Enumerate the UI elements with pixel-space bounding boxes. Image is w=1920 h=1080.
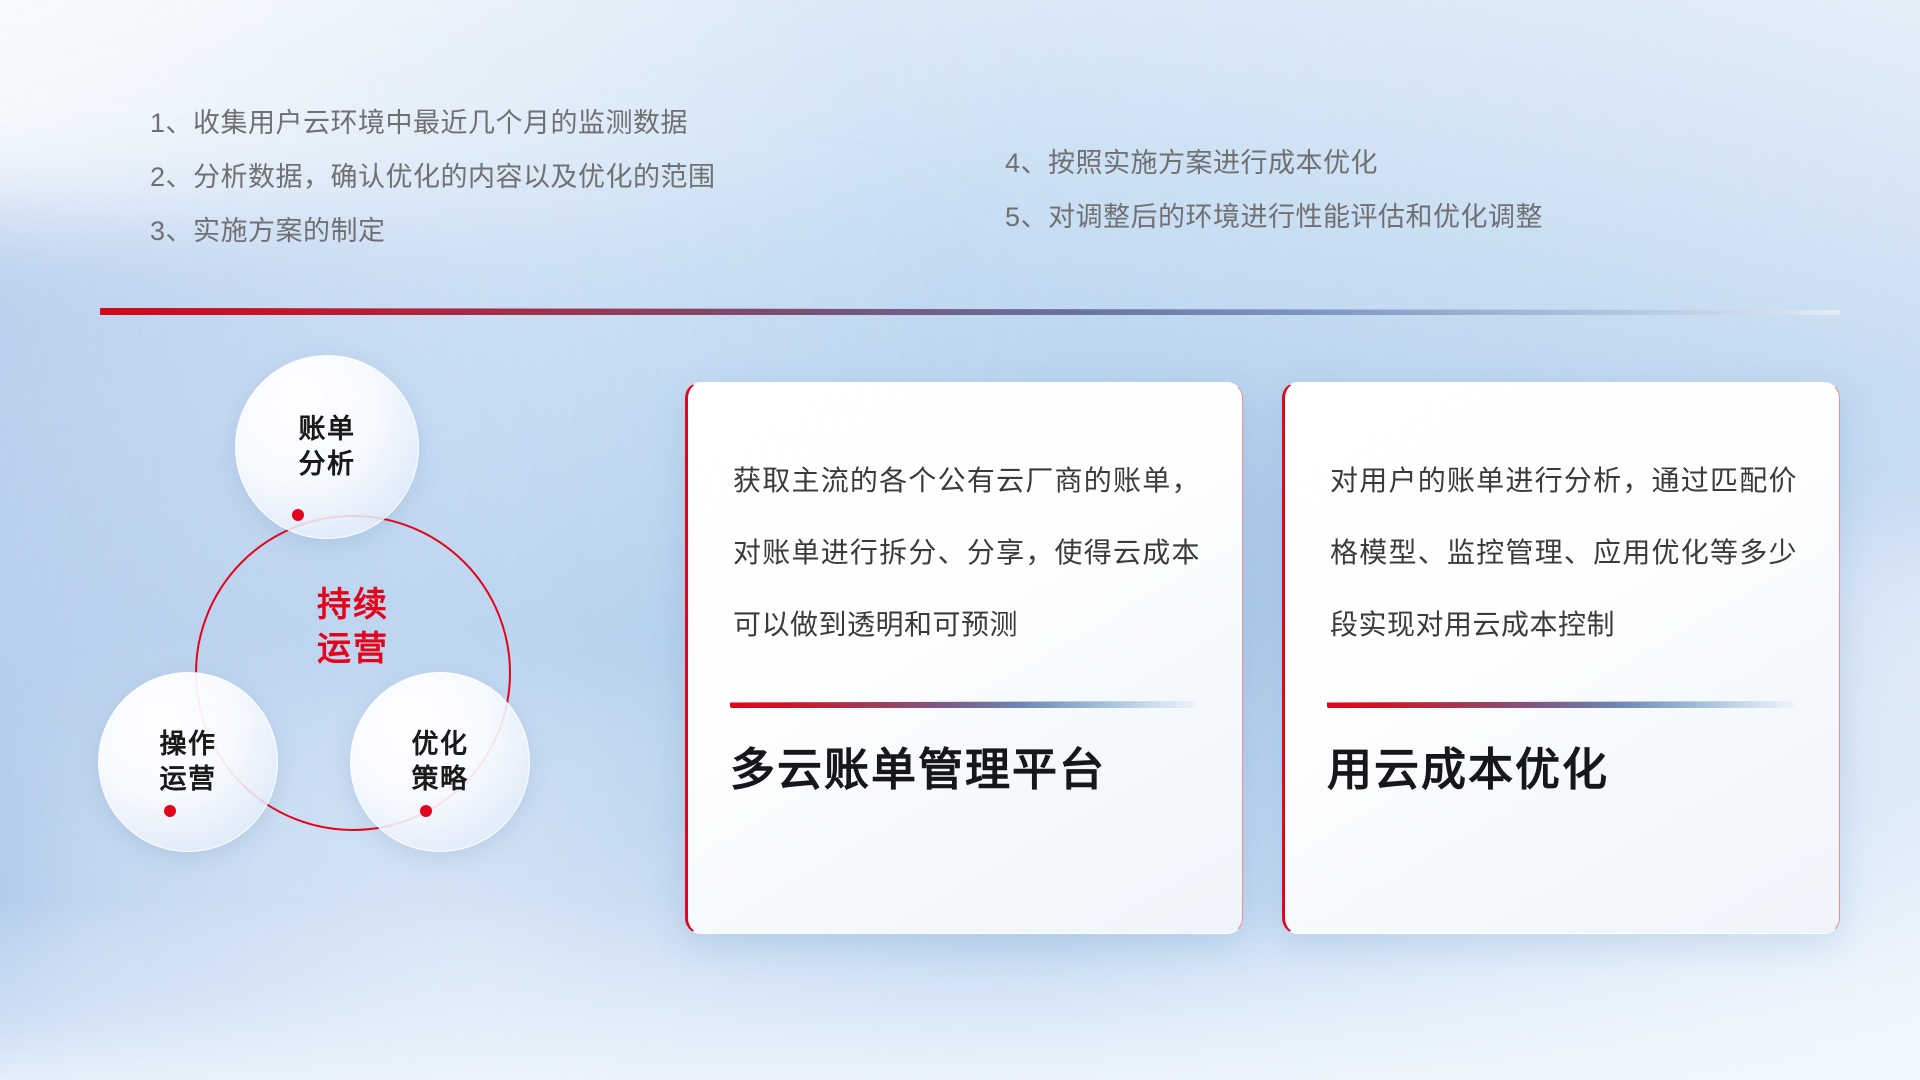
step-item-4: 4、按照实施方案进行成本优化: [1005, 136, 1543, 190]
diagram-center-label: 持续 运营: [195, 583, 511, 671]
diagram-connector-dot-right: [420, 805, 432, 817]
diagram-node-bill-analysis[interactable]: 账单 分析: [235, 355, 419, 539]
step-item-5: 5、对调整后的环境进行性能评估和优化调整: [1005, 190, 1543, 244]
feature-card-multicloud-billing[interactable]: 获取主流的各个公有云厂商的账单，对账单进行拆分、分享，使得云成本可以做到透明和可…: [685, 382, 1243, 934]
steps-column-left: 1、收集用户云环境中最近几个月的监测数据 2、分析数据，确认优化的内容以及优化的…: [150, 96, 716, 258]
continuous-operation-diagram: 持续 运营 账单 分析 操作 运营 优化 策略: [90, 355, 620, 915]
feature-card-cost-optimization[interactable]: 对用户的账单进行分析，通过匹配价格模型、监控管理、应用优化等多少段实现对用云成本…: [1282, 382, 1840, 934]
feature-card-cost-optimization-title: 用云成本优化: [1327, 743, 1801, 797]
section-divider: [100, 308, 1840, 320]
diagram-node-operation-line1: 操作: [160, 727, 217, 762]
step-item-1: 1、收集用户云环境中最近几个月的监测数据: [150, 96, 716, 150]
diagram-node-optimization-strategy[interactable]: 优化 策略: [350, 672, 530, 852]
diagram-node-optimization-strategy-line1: 优化: [412, 727, 469, 762]
diagram-connector-dot-top: [292, 509, 304, 521]
feature-card-cost-optimization-body: 对用户的账单进行分析，通过匹配价格模型、监控管理、应用优化等多少段实现对用云成本…: [1330, 445, 1797, 661]
section-divider-bar: [100, 308, 1840, 315]
diagram-node-optimization-strategy-line2: 策略: [412, 762, 469, 797]
feature-card-multicloud-billing-rule: [730, 701, 1198, 708]
diagram-node-bill-analysis-line2: 分析: [299, 447, 356, 482]
diagram-node-bill-analysis-line1: 账单: [299, 412, 356, 447]
steps-list: 1、收集用户云环境中最近几个月的监测数据 2、分析数据，确认优化的内容以及优化的…: [150, 96, 1750, 246]
diagram-node-operation[interactable]: 操作 运营: [98, 672, 278, 852]
diagram-center-label-line2: 运营: [195, 627, 511, 671]
feature-cards: 获取主流的各个公有云厂商的账单，对账单进行拆分、分享，使得云成本可以做到透明和可…: [685, 382, 1840, 934]
steps-column-right: 4、按照实施方案进行成本优化 5、对调整后的环境进行性能评估和优化调整: [1005, 136, 1543, 244]
feature-card-cost-optimization-rule: [1327, 701, 1795, 708]
step-item-2: 2、分析数据，确认优化的内容以及优化的范围: [150, 150, 716, 204]
diagram-node-operation-line2: 运营: [160, 762, 217, 797]
step-item-3: 3、实施方案的制定: [150, 204, 716, 258]
diagram-center-label-line1: 持续: [195, 583, 511, 627]
feature-card-multicloud-billing-title: 多云账单管理平台: [730, 743, 1204, 797]
feature-card-multicloud-billing-body: 获取主流的各个公有云厂商的账单，对账单进行拆分、分享，使得云成本可以做到透明和可…: [733, 445, 1200, 661]
slide-canvas: 1、收集用户云环境中最近几个月的监测数据 2、分析数据，确认优化的内容以及优化的…: [0, 0, 1920, 1080]
diagram-connector-dot-left: [164, 805, 176, 817]
